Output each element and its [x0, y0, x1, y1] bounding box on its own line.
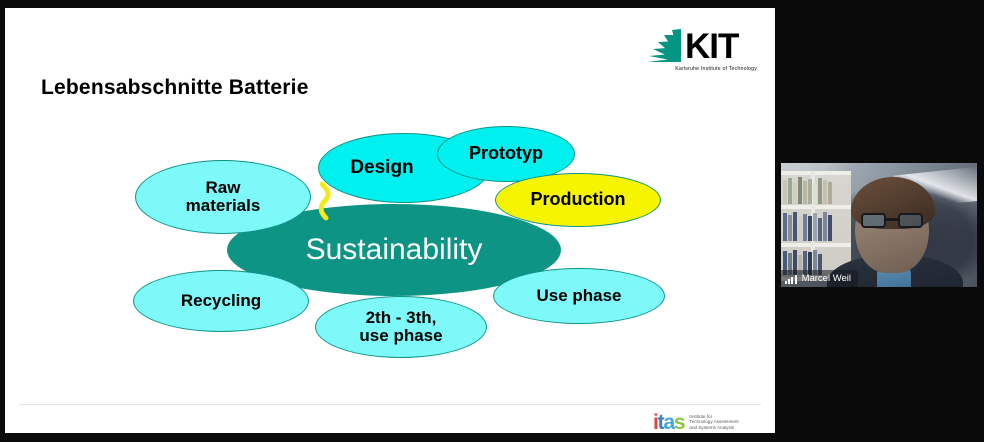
- signal-bars-icon: [785, 274, 797, 284]
- diagram-node-label: Prototyp: [469, 144, 543, 163]
- label-line-2: use phase: [359, 326, 442, 345]
- participant-name-badge: Marcel Weil: [781, 270, 858, 287]
- diagram-node-label: 2th - 3th, use phase: [359, 309, 442, 346]
- sustainability-lifecycle-diagram: Sustainability Raw materials Design Prot…: [5, 8, 775, 433]
- diagram-node-raw-materials[interactable]: Raw materials: [135, 160, 311, 234]
- diagram-node-label: Production: [531, 190, 626, 209]
- diagram-node-label: Use phase: [536, 287, 621, 305]
- label-line-1: Raw: [206, 178, 241, 197]
- glasses-bridge: [886, 218, 898, 221]
- itas-tagline-line2: Technology Assessment: [689, 419, 738, 425]
- itas-tagline-line3: and Systems Analysis: [689, 425, 738, 431]
- chevron-svg: [315, 180, 341, 222]
- shared-slide[interactable]: KIT Karlsruhe Institute of Technology Le…: [5, 8, 775, 433]
- participant-name: Marcel Weil: [802, 273, 851, 284]
- diagram-node-label: Recycling: [181, 292, 261, 310]
- right-lens: [898, 213, 923, 228]
- participant-video-tile[interactable]: Marcel Weil: [781, 163, 977, 287]
- itas-tagline: Institute for Technology Assessment and …: [689, 414, 738, 431]
- left-lens: [861, 213, 886, 228]
- diagram-node-recycling[interactable]: Recycling: [133, 270, 309, 332]
- itas-letter-a: a: [663, 411, 673, 434]
- itas-wordmark: itas: [653, 412, 684, 433]
- yellow-chevron-arrow-icon: [315, 180, 341, 222]
- diagram-node-use-phase[interactable]: Use phase: [493, 268, 665, 324]
- meeting-stage: KIT Karlsruhe Institute of Technology Le…: [0, 0, 984, 442]
- diagram-node-second-third-use-phase[interactable]: 2th - 3th, use phase: [315, 296, 487, 358]
- label-line-1: 2th - 3th,: [366, 308, 437, 327]
- footer-divider: [19, 404, 761, 405]
- label-line-2: materials: [186, 196, 261, 215]
- diagram-node-label: Design: [350, 158, 413, 179]
- itas-letter-s: s: [674, 411, 684, 434]
- diagram-node-label: Raw materials: [186, 179, 261, 216]
- diagram-node-label: Sustainability: [306, 234, 483, 266]
- eyeglasses: [861, 213, 923, 228]
- itas-logo: itas Institute for Technology Assessment…: [653, 410, 739, 433]
- diagram-node-production[interactable]: Production: [495, 173, 661, 227]
